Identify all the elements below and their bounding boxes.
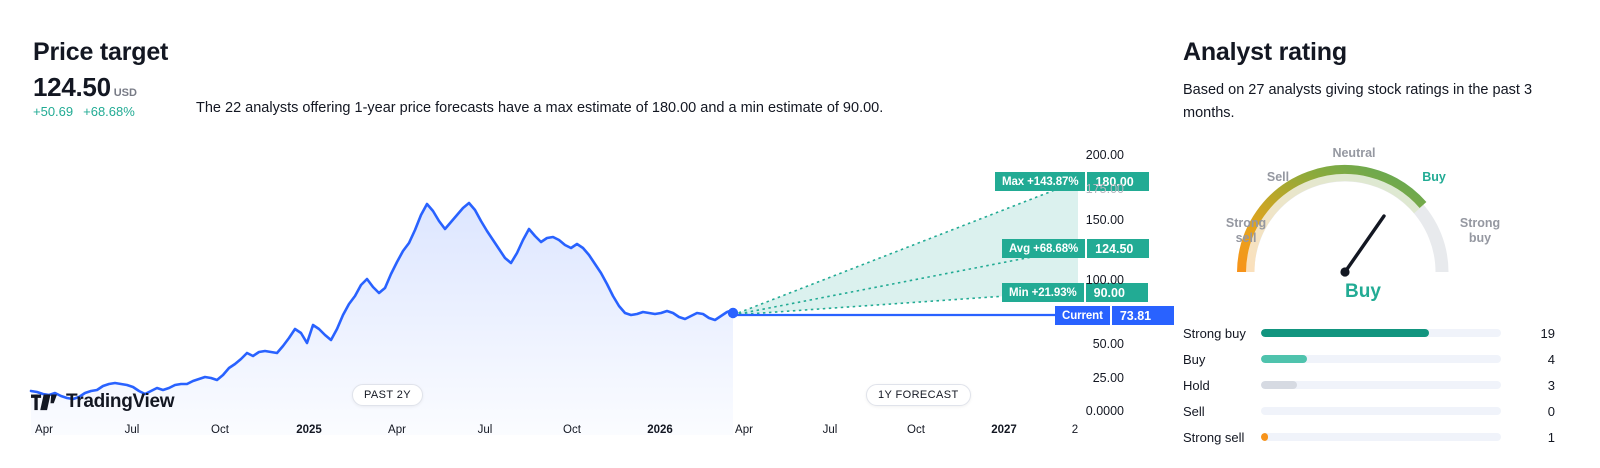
gauge-needle — [1340, 216, 1384, 277]
rating-name: Strong buy — [1183, 326, 1261, 341]
rating-count: 19 — [1523, 326, 1555, 341]
y-tick: 200.00 — [1086, 148, 1124, 162]
x-tick: Oct — [211, 424, 229, 436]
y-tick: 100.00 — [1086, 273, 1124, 287]
rating-count: 3 — [1523, 378, 1555, 393]
rating-name: Sell — [1183, 404, 1261, 419]
table-row[interactable]: Hold 3 — [1183, 372, 1555, 398]
x-tick: 2025 — [296, 424, 322, 436]
forecast-period-pill[interactable]: 1Y FORECAST — [866, 384, 971, 406]
gauge-label-strong-sell-line2: sell — [1212, 231, 1280, 246]
rating-bar-track — [1261, 407, 1501, 415]
table-row[interactable]: Strong sell 1 — [1183, 424, 1555, 450]
tradingview-wordmark: TradingView — [66, 391, 174, 413]
analyst-rating-subtitle: Based on 27 analysts giving stock rating… — [1183, 79, 1543, 125]
gauge-label-strong-buy-line2: buy — [1446, 231, 1514, 246]
price-target-analyst-rating-widget: Price target 124.50 USD +50.69 +68.68% T… — [0, 0, 1600, 468]
price-target-change-percent: +68.68% — [83, 104, 135, 119]
x-tick: Oct — [563, 424, 581, 436]
rating-count: 0 — [1523, 404, 1555, 419]
price-target-value: 124.50 — [33, 72, 111, 103]
price-target-value-row: 124.50 USD — [33, 72, 137, 103]
analyst-rating-heading: Analyst rating — [1183, 38, 1347, 67]
current-price-marker — [728, 308, 738, 318]
chart-y-axis[interactable]: 200.00 175.00 150.00 100.00 50.00 25.00 … — [1078, 135, 1140, 425]
x-tick: Apr — [35, 424, 53, 436]
x-tick: Jul — [478, 424, 493, 436]
min-price-badge-label: Min +21.93% — [1002, 283, 1084, 302]
table-row[interactable]: Sell 0 — [1183, 398, 1555, 424]
rating-bar-track — [1261, 329, 1501, 337]
x-tick: Jul — [125, 424, 140, 436]
x-tick: 2026 — [647, 424, 673, 436]
avg-price-badge-label: Avg +68.68% — [1002, 239, 1085, 258]
table-row[interactable]: Buy 4 — [1183, 346, 1555, 372]
y-tick: 0.0000 — [1086, 404, 1124, 418]
rating-name: Hold — [1183, 378, 1261, 393]
rating-bar-track — [1261, 355, 1501, 363]
y-tick: 175.00 — [1086, 182, 1124, 196]
rating-bar-track — [1261, 381, 1501, 389]
gauge-label-strong-sell-line1: Strong — [1212, 216, 1280, 231]
gauge-label-neutral: Neutral — [1321, 146, 1387, 161]
gauge-label-strong-buy-line1: Strong — [1446, 216, 1514, 231]
price-target-heading: Price target — [33, 38, 168, 67]
analyst-rating-breakdown: Strong buy 19 Buy 4 Hold 3 Sell 0 — [1183, 320, 1555, 450]
analyst-rating-gauge[interactable]: Strong sell Sell Neutral Buy Strong buy — [1230, 158, 1496, 288]
price-forecast-chart[interactable]: PAST 2Y 1Y FORECAST — [0, 135, 1140, 435]
price-target-change: +50.69 +68.68% — [33, 104, 135, 119]
rating-bar-fill — [1261, 433, 1268, 441]
x-tick: Apr — [388, 424, 406, 436]
price-target-currency: USD — [114, 87, 137, 99]
tradingview-mark-icon — [31, 394, 57, 411]
chart-x-axis[interactable]: Apr Jul Oct 2025 Apr Jul Oct 2026 Apr Ju… — [0, 424, 1140, 448]
gauge-label-strong-sell: Strong sell — [1212, 216, 1280, 246]
gauge-label-strong-buy: Strong buy — [1446, 216, 1514, 246]
x-tick: 2 — [1072, 424, 1078, 436]
tradingview-logo[interactable]: TradingView — [31, 391, 174, 413]
rating-bar-fill — [1261, 381, 1297, 389]
rating-name: Strong sell — [1183, 430, 1261, 445]
y-tick: 150.00 — [1086, 213, 1124, 227]
y-tick: 50.00 — [1093, 337, 1124, 351]
gauge-label-buy: Buy — [1412, 170, 1456, 185]
x-tick: Oct — [907, 424, 925, 436]
price-target-change-absolute: +50.69 — [33, 104, 73, 119]
gauge-label-sell: Sell — [1256, 170, 1300, 185]
table-row[interactable]: Strong buy 19 — [1183, 320, 1555, 346]
price-target-description: The 22 analysts offering 1-year price fo… — [196, 100, 883, 116]
rating-count: 4 — [1523, 352, 1555, 367]
past-period-pill[interactable]: PAST 2Y — [352, 384, 423, 406]
x-tick: Jul — [823, 424, 838, 436]
rating-bar-fill — [1261, 329, 1429, 337]
y-tick: 25.00 — [1093, 371, 1124, 385]
rating-bar-track — [1261, 433, 1501, 441]
x-tick: 2027 — [991, 424, 1017, 436]
rating-bar-fill — [1261, 355, 1307, 363]
rating-count: 1 — [1523, 430, 1555, 445]
rating-name: Buy — [1183, 352, 1261, 367]
max-price-badge-label: Max +143.87% — [995, 172, 1085, 191]
analyst-rating-verdict: Buy — [1345, 281, 1381, 303]
x-tick: Apr — [735, 424, 753, 436]
